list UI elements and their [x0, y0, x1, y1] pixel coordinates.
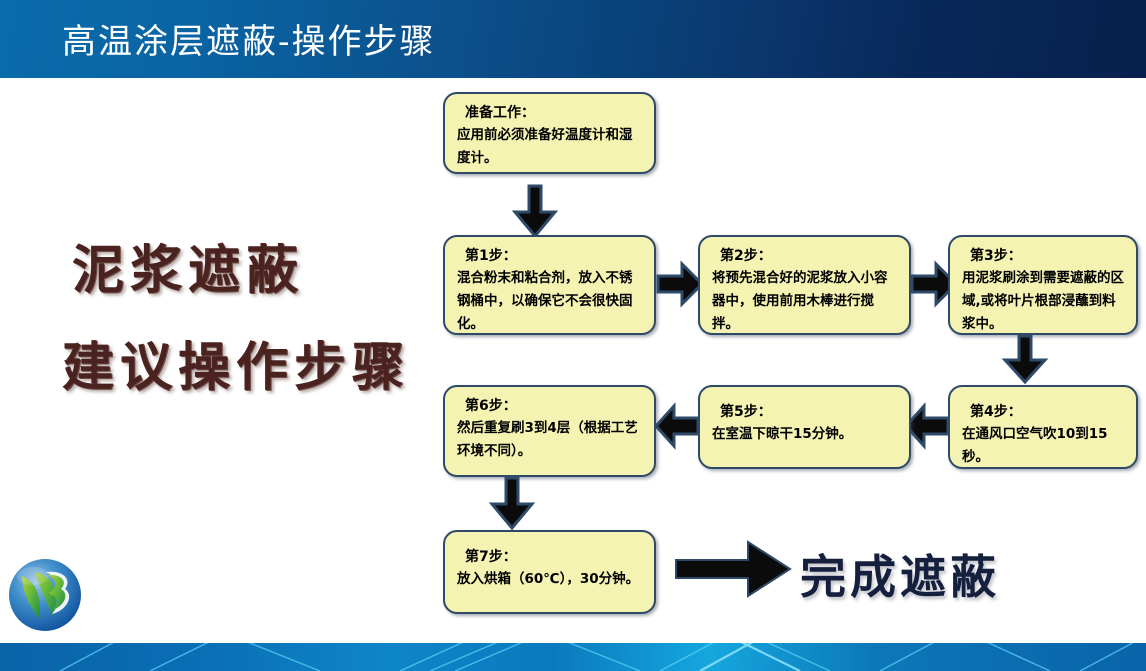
flow-box-step-4[interactable]: 第4步： 在通风口空气吹10到15秒。 — [948, 385, 1138, 469]
flow-box-prep-body: 应用前必须准备好温度计和湿度计。 — [457, 124, 644, 170]
flow-box-step-2[interactable]: 第2步： 将预先混合好的泥浆放入小容器中，使用前用木棒进行搅拌。 — [698, 235, 911, 335]
company-logo — [6, 556, 84, 634]
flow-box-step-1-body: 混合粉末和粘合剂，放入不锈钢桶中，以确保它不会很快固化。 — [457, 267, 644, 336]
flow-box-step-4-body: 在通风口空气吹10到15秒。 — [962, 423, 1126, 469]
wordart-line-2: 建议操作步骤 — [62, 325, 410, 400]
flow-box-step-5-body: 在室温下晾干15分钟。 — [712, 423, 899, 446]
flow-box-step-5-title: 第5步： — [720, 401, 899, 423]
flow-box-step-5[interactable]: 第5步： 在室温下晾干15分钟。 — [698, 385, 911, 469]
arrow-down-step3-to-step4 — [1003, 336, 1047, 384]
flow-box-step-2-title: 第2步： — [720, 245, 899, 267]
arrow-down-prep-to-step1 — [513, 186, 557, 238]
flow-box-step-4-title: 第4步： — [970, 401, 1126, 423]
footer-pattern-icon — [0, 643, 1146, 671]
page-title: 高温涂层遮蔽-操作步骤 — [62, 14, 436, 63]
slide-header-bar: 高温涂层遮蔽-操作步骤 — [0, 0, 1146, 78]
flow-box-step-6[interactable]: 第6步： 然后重复刷3到4层（根据工艺环境不同）。 — [443, 385, 656, 477]
flow-box-step-3-body: 用泥浆刷涂到需要遮蔽的区域,或将叶片根部浸蘸到料浆中。 — [962, 267, 1126, 336]
wordart-line-1: 泥浆遮蔽 — [72, 228, 304, 303]
flow-box-step-7-body: 放入烘箱（60℃），30分钟。 — [457, 568, 644, 591]
flow-box-step-1[interactable]: 第1步： 混合粉末和粘合剂，放入不锈钢桶中，以确保它不会很快固化。 — [443, 235, 656, 335]
flow-box-step-3-title: 第3步： — [970, 245, 1126, 267]
flow-box-step-7-title: 第7步： — [465, 546, 644, 568]
flow-box-step-3[interactable]: 第3步： 用泥浆刷涂到需要遮蔽的区域,或将叶片根部浸蘸到料浆中。 — [948, 235, 1138, 335]
flow-box-step-6-title: 第6步： — [465, 395, 644, 417]
arrow-left-step5-to-step6 — [654, 404, 700, 448]
finish-label: 完成遮蔽 — [800, 541, 1000, 607]
slide-canvas: 高温涂层遮蔽-操作步骤 泥浆遮蔽 建议操作步骤 准备工作： 应用前必须准备好温度… — [0, 0, 1146, 671]
flow-box-prep-title: 准备工作： — [465, 102, 644, 124]
flow-box-step-7[interactable]: 第7步： 放入烘箱（60℃），30分钟。 — [443, 530, 656, 614]
flow-box-step-6-body: 然后重复刷3到4层（根据工艺环境不同）。 — [457, 417, 644, 463]
arrow-down-step6-to-step7 — [490, 478, 534, 530]
arrow-right-finish — [676, 538, 792, 600]
flow-box-prep[interactable]: 准备工作： 应用前必须准备好温度计和湿度计。 — [443, 92, 656, 174]
flow-box-step-2-body: 将预先混合好的泥浆放入小容器中，使用前用木棒进行搅拌。 — [712, 267, 899, 336]
slide-footer-bar — [0, 643, 1146, 671]
flow-box-step-1-title: 第1步： — [465, 245, 644, 267]
